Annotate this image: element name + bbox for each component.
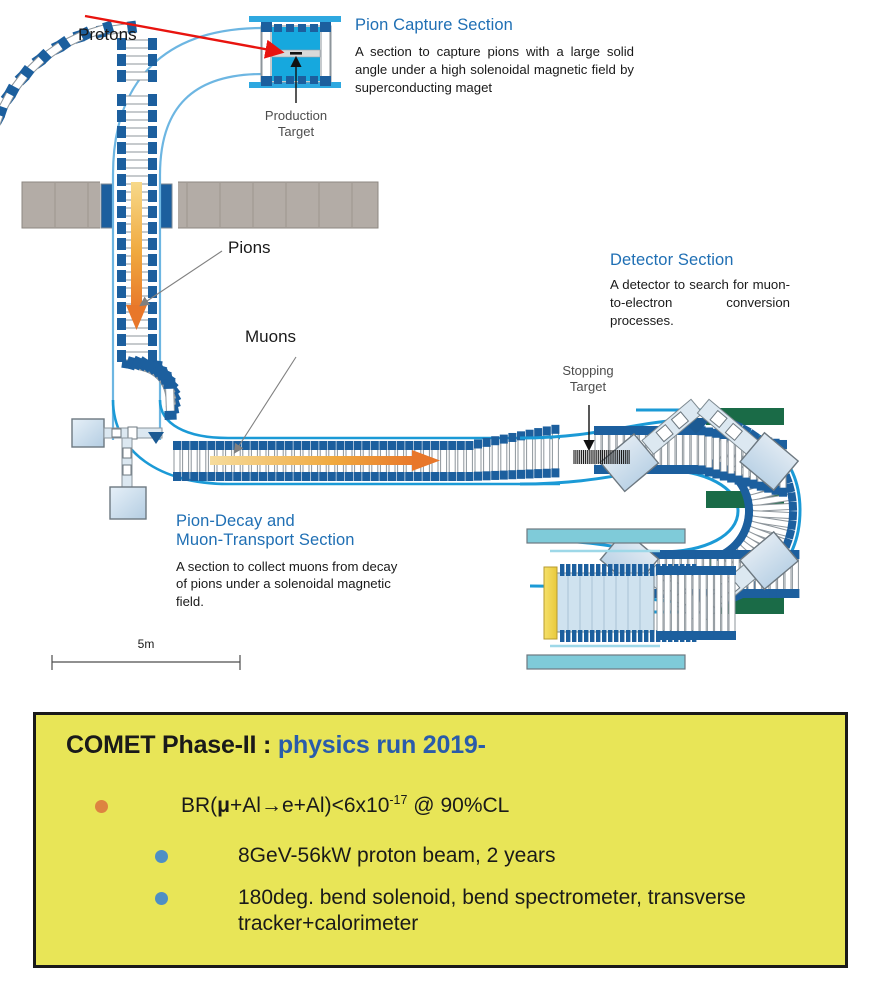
transport-straight-coils	[173, 425, 559, 481]
mu-symbol: μ	[217, 794, 230, 817]
detector-body: A detector to search for muon-to-electro…	[610, 276, 790, 329]
pion-decay-section-text: Pion-Decay and Muon-Transport Section A …	[176, 512, 412, 611]
summary-bullet-2-text: 8GeV-56kW proton beam, 2 years	[238, 843, 556, 869]
production-target-label: Production Target	[244, 108, 348, 139]
summary-bullet-2: 8GeV-56kW proton beam, 2 years	[155, 843, 815, 869]
pion-decay-heading-line2: Muon-Transport Section	[176, 531, 412, 550]
comet-beamline-diagram	[0, 0, 882, 700]
summary-title-blue: physics run 2019-	[278, 731, 486, 759]
auxiliary-equipment-left	[72, 419, 164, 519]
bullet-dot-icon	[155, 850, 168, 863]
summary-bullet-1: BR(μ+Al→e+Al)<6x10-17 @ 90%CL	[95, 793, 795, 819]
scale-bar	[52, 655, 240, 670]
br-prefix: BR(	[181, 794, 217, 817]
br-mid: +Al→e+Al)<6x10	[230, 794, 389, 817]
bullet-dot-icon	[155, 892, 168, 905]
pions-label: Pions	[228, 238, 271, 258]
muons-label: Muons	[245, 327, 296, 347]
br-post: @ 90%CL	[407, 794, 509, 817]
pion-capture-body: A section to capture pions with a large …	[355, 43, 634, 96]
protons-label: Protons	[78, 25, 137, 45]
pion-decay-heading-line1: Pion-Decay and	[176, 512, 412, 531]
summary-bullet-3: 180deg. bend solenoid, bend spectrometer…	[155, 885, 835, 936]
bullet-dot-icon	[95, 800, 108, 813]
transport-bend-coils	[117, 350, 181, 420]
pion-capture-heading: Pion Capture Section	[355, 16, 634, 35]
detector-section-text: Detector Section A detector to search fo…	[610, 251, 790, 329]
stopping-target-label-line1: Stopping	[538, 363, 638, 379]
pion-capture-assembly	[249, 16, 341, 103]
pion-capture-section-text: Pion Capture Section A section to captur…	[355, 16, 634, 96]
stopping-target-label: Stopping Target	[538, 363, 638, 394]
summary-bullet-3-text: 180deg. bend solenoid, bend spectrometer…	[238, 885, 835, 936]
scale-bar-label: 5m	[92, 637, 200, 651]
summary-title: COMET Phase-II : physics run 2019-	[66, 731, 486, 760]
stopping-target-label-line2: Target	[538, 379, 638, 395]
production-target-label-line2: Target	[244, 124, 348, 140]
br-exponent: -17	[389, 793, 407, 807]
summary-bullet-1-text: BR(μ+Al→e+Al)<6x10-17 @ 90%CL	[181, 793, 509, 819]
summary-title-black: COMET Phase-II :	[66, 731, 271, 759]
shielding-wall	[22, 180, 378, 230]
detector-section	[520, 392, 800, 669]
detector-heading: Detector Section	[610, 251, 790, 270]
pion-decay-body: A section to collect muons from decay of…	[176, 558, 412, 611]
production-target-label-line1: Production	[244, 108, 348, 124]
